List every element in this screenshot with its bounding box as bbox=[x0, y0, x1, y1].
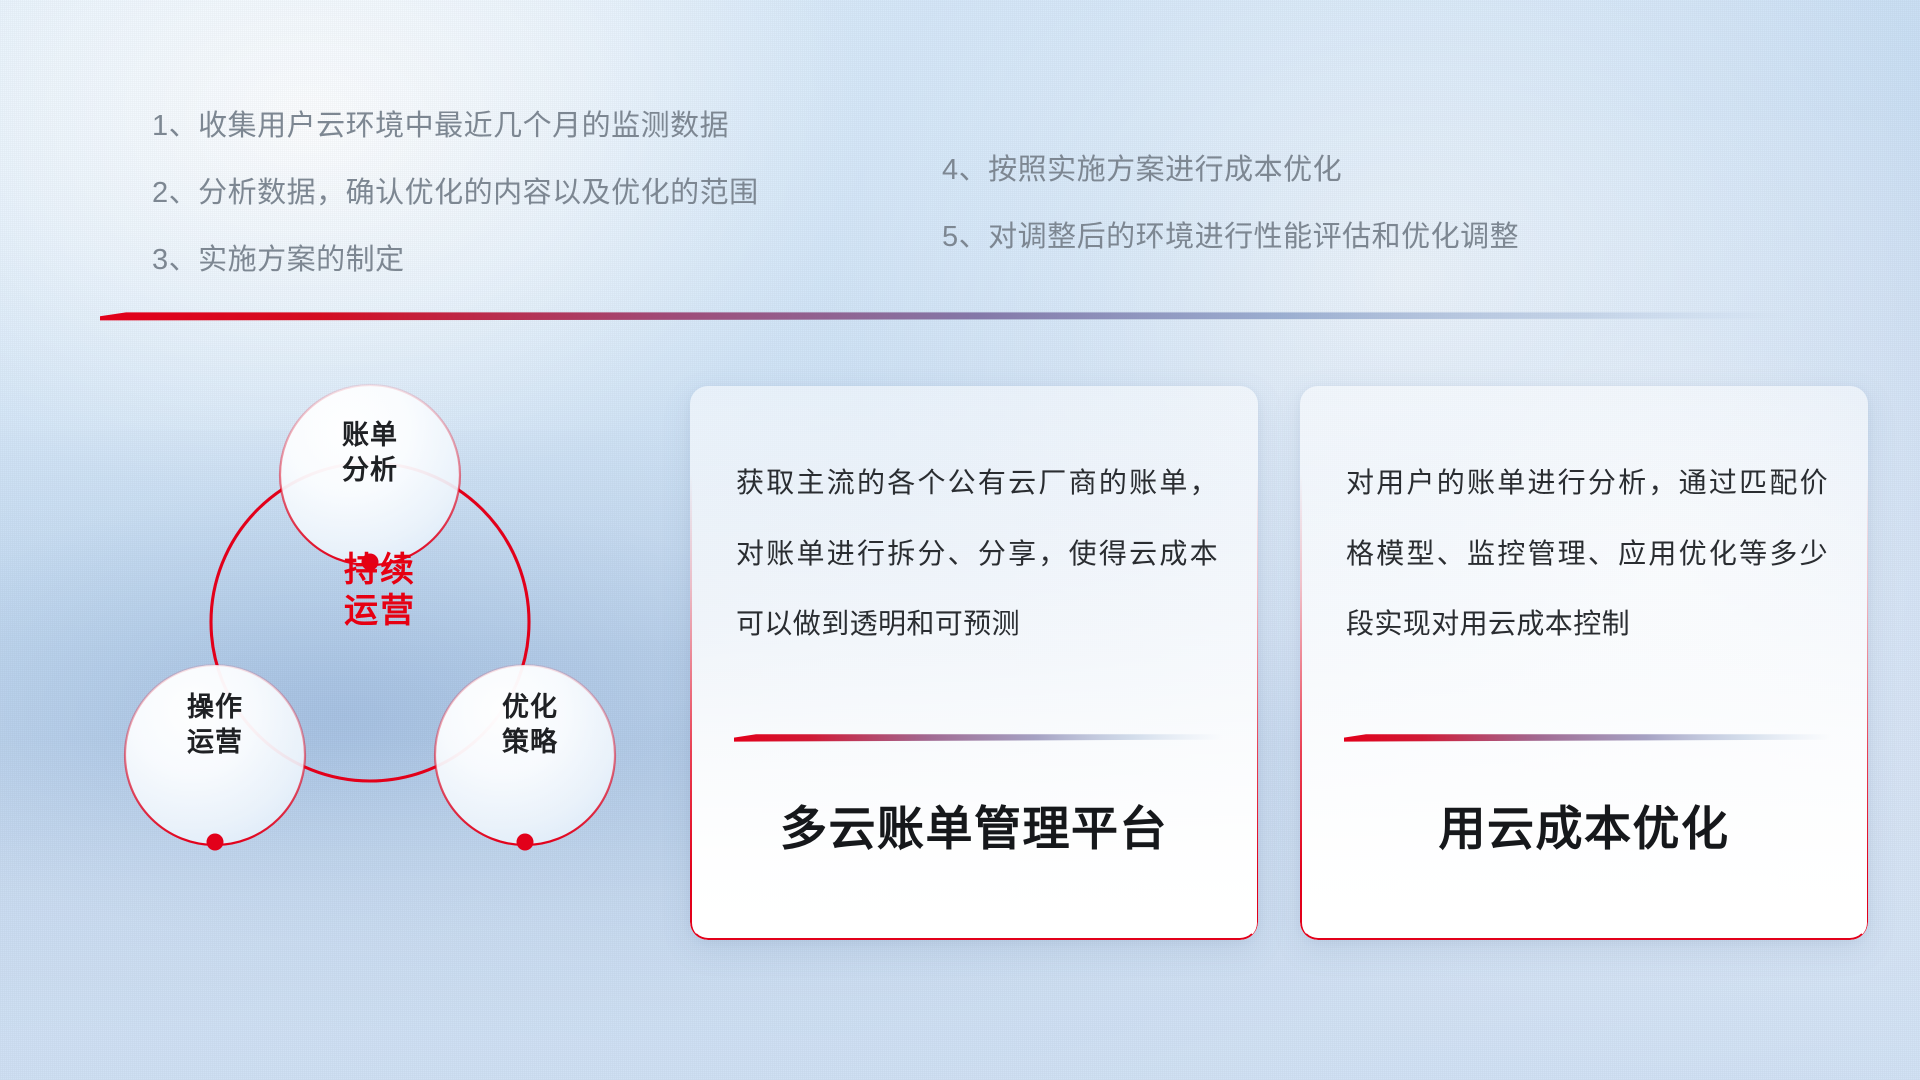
card-multi-cloud-billing[interactable]: 获取主流的各个公有云厂商的账单，对账单进行拆分、分享，使得云成本可以做到透明和可… bbox=[690, 386, 1258, 940]
venn-node-dot-right bbox=[517, 834, 534, 851]
steps-column-left: 1、收集用户云环境中最近几个月的监测数据 2、分析数据，确认优化的内容以及优化的… bbox=[152, 112, 912, 313]
step-item-3: 3、实施方案的制定 bbox=[152, 246, 912, 275]
venn-label-center: 持续 运营 bbox=[290, 550, 470, 633]
step-item-5: 5、对调整后的环境进行性能评估和优化调整 bbox=[942, 223, 1742, 252]
venn-node-dot-left bbox=[207, 834, 224, 851]
card-2-rule bbox=[1344, 734, 1832, 742]
venn-label-operations: 操作 运营 bbox=[125, 690, 305, 759]
top-divider-shape bbox=[100, 312, 1790, 321]
card-2-title: 用云成本优化 bbox=[1300, 790, 1868, 859]
card-2-body: 对用户的账单进行分析，通过匹配价格模型、监控管理、应用优化等多少段实现对用云成本… bbox=[1346, 448, 1828, 660]
slide-canvas: 1、收集用户云环境中最近几个月的监测数据 2、分析数据，确认优化的内容以及优化的… bbox=[0, 0, 1920, 1080]
steps-list: 1、收集用户云环境中最近几个月的监测数据 2、分析数据，确认优化的内容以及优化的… bbox=[0, 112, 1920, 313]
card-1-rule bbox=[734, 734, 1222, 742]
card-1-title: 多云账单管理平台 bbox=[690, 790, 1258, 859]
card-2-rule-shape bbox=[1344, 734, 1832, 742]
venn-label-optimization-strategy: 优化 策略 bbox=[440, 690, 620, 759]
card-1-rule-shape bbox=[734, 734, 1222, 742]
top-divider bbox=[100, 312, 1790, 321]
venn-diagram: 账单 分析 操作 运营 优化 策略 持续 运营 bbox=[95, 345, 655, 955]
venn-label-bill-analysis: 账单 分析 bbox=[280, 418, 460, 487]
step-item-2: 2、分析数据，确认优化的内容以及优化的范围 bbox=[152, 179, 912, 208]
steps-column-right: 4、按照实施方案进行成本优化 5、对调整后的环境进行性能评估和优化调整 bbox=[942, 112, 1742, 290]
card-cloud-cost-optimization[interactable]: 对用户的账单进行分析，通过匹配价格模型、监控管理、应用优化等多少段实现对用云成本… bbox=[1300, 386, 1868, 940]
step-item-1: 1、收集用户云环境中最近几个月的监测数据 bbox=[152, 112, 912, 141]
card-1-body: 获取主流的各个公有云厂商的账单，对账单进行拆分、分享，使得云成本可以做到透明和可… bbox=[736, 448, 1218, 660]
step-item-4: 4、按照实施方案进行成本优化 bbox=[942, 156, 1742, 185]
